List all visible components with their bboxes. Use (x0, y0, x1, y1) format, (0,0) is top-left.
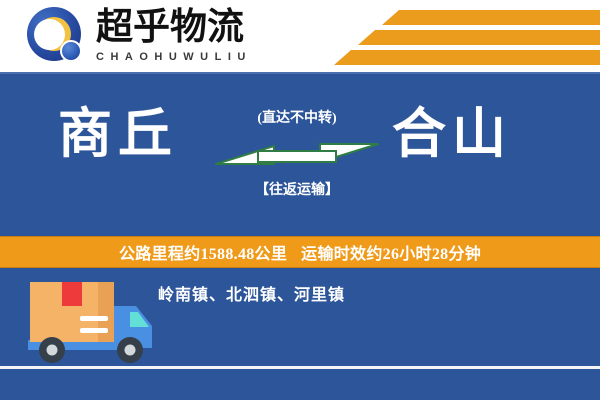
bidirectional-arrow-icon (212, 134, 382, 174)
decorative-stripes (330, 0, 600, 74)
destination-towns: 岭南镇、北泗镇、河里镇 (158, 281, 345, 305)
banner-header: 超乎物流 CHAOHUWULIU (0, 0, 600, 74)
destination-city: 合山 (392, 102, 512, 166)
origin-city: 商丘 (58, 102, 178, 166)
brand-name-en: CHAOHUWULIU (96, 50, 276, 64)
route-note-roundtrip: 【往返运输】 (212, 182, 382, 200)
info-bar: 公路里程约1588.48公里 运输时效约26小时28分钟 (0, 236, 600, 268)
logo-dot (60, 40, 82, 62)
route-center: (直达不中转) 【往返运输】 (212, 110, 382, 226)
route-duration: 运输时效约26小时28分钟 (301, 240, 481, 264)
brand-lockup: 超乎物流 CHAOHUWULIU (96, 8, 276, 64)
logistics-banner: 超乎物流 CHAOHUWULIU 商丘 (直达不中转) 【往返运输】 合山 (0, 0, 600, 400)
route-note-direct: (直达不中转) (212, 110, 382, 128)
bottom-section: 岭南镇、北泗镇、河里镇 (0, 268, 600, 368)
stripe-2 (358, 30, 600, 45)
route-distance: 公路里程约1588.48公里 (119, 240, 287, 264)
stripe-1 (382, 10, 600, 25)
delivery-truck-icon (18, 276, 160, 368)
circle-crescent-logo-icon (27, 7, 85, 65)
brand-name-cn: 超乎物流 (96, 8, 276, 48)
footer-strip (0, 369, 600, 400)
route-section: 商丘 (直达不中转) 【往返运输】 合山 (0, 74, 600, 236)
stripe-3 (334, 50, 600, 65)
